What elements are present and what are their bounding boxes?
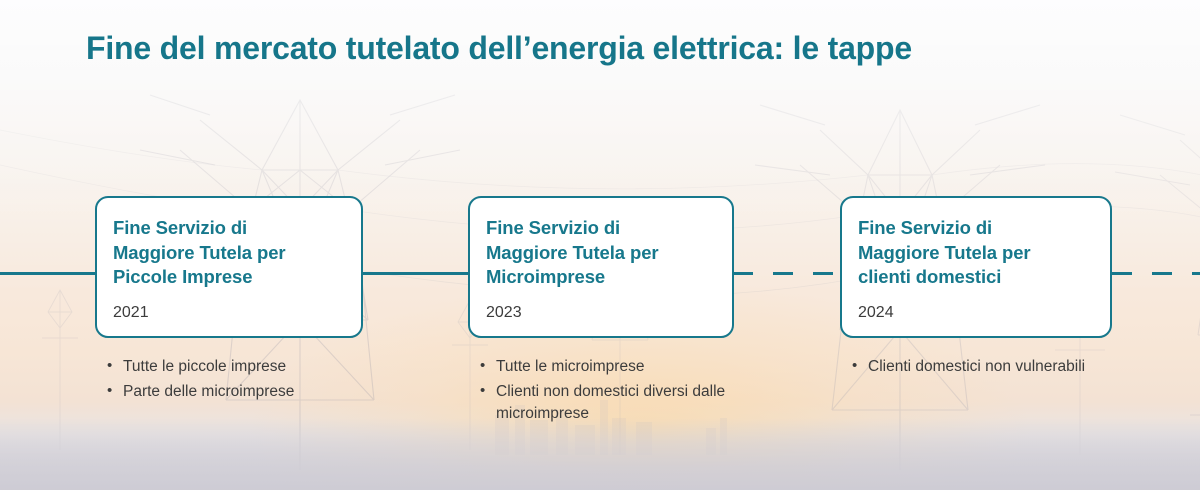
timeline: Fine Servizio di Maggiore Tutela per Pic…: [0, 0, 1200, 490]
step-title: Fine Servizio di Maggiore Tutela per Mic…: [486, 216, 716, 290]
step-card[interactable]: Fine Servizio di Maggiore Tutela per cli…: [840, 196, 1112, 338]
step-bullet-list: Clienti domestici non vulnerabili: [840, 356, 1112, 378]
timeline-step-2021: Fine Servizio di Maggiore Tutela per Pic…: [95, 196, 363, 406]
step-card[interactable]: Fine Servizio di Maggiore Tutela per Pic…: [95, 196, 363, 338]
timeline-step-2024: Fine Servizio di Maggiore Tutela per cli…: [840, 196, 1112, 381]
list-item: Tutte le piccole imprese: [107, 356, 363, 378]
list-item: Clienti non domestici diversi dalle micr…: [480, 381, 734, 425]
step-bullet-list: Tutte le piccole imprese Parte delle mic…: [95, 356, 363, 403]
step-card[interactable]: Fine Servizio di Maggiore Tutela per Mic…: [468, 196, 734, 338]
timeline-step-2023: Fine Servizio di Maggiore Tutela per Mic…: [468, 196, 734, 428]
step-title: Fine Servizio di Maggiore Tutela per cli…: [858, 216, 1094, 290]
step-year: 2023: [486, 303, 716, 322]
step-bullet-list: Tutte le microimprese Clienti non domest…: [468, 356, 734, 425]
list-item: Tutte le microimprese: [480, 356, 734, 378]
list-item: Clienti domestici non vulnerabili: [852, 356, 1112, 378]
list-item: Parte delle microimprese: [107, 381, 363, 403]
page-title: Fine del mercato tutelato dell’energia e…: [86, 30, 912, 67]
step-year: 2024: [858, 303, 1094, 322]
step-year: 2021: [113, 303, 345, 322]
step-title: Fine Servizio di Maggiore Tutela per Pic…: [113, 216, 345, 290]
